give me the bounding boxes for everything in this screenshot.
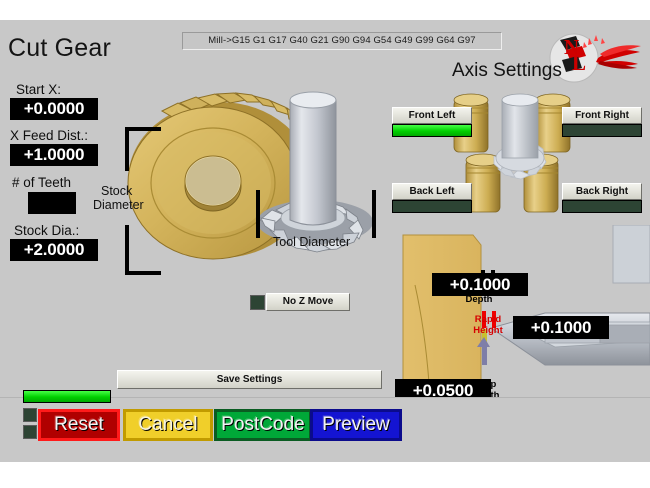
stock-dia-label: Stock Dia.: (14, 223, 79, 238)
cancel-button[interactable]: Cancel (123, 409, 213, 441)
axis-led-front-right (562, 124, 642, 137)
reset-button[interactable]: Reset (38, 409, 120, 441)
preview-button[interactable]: Preview (310, 409, 402, 441)
save-settings-button[interactable]: Save Settings (117, 370, 382, 389)
axis-button-back-left[interactable]: Back Left (392, 183, 472, 200)
stock-diameter-callout-line1: Stock (101, 184, 132, 198)
axis-led-back-left (392, 200, 472, 213)
num-teeth-value[interactable] (28, 192, 76, 214)
no-z-move-button[interactable]: No Z Move (266, 293, 350, 311)
no-z-move-led (250, 295, 265, 310)
axis-button-front-right[interactable]: Front Right (562, 107, 642, 124)
cut-detail-drawing (395, 225, 650, 390)
stock-diameter-callout-line2: Diameter (93, 198, 144, 212)
svg-text:L: L (572, 51, 586, 75)
axis-settings-title: Axis Settings (452, 60, 562, 82)
axis-led-front-left (392, 124, 472, 137)
rapid-height-label-line1: Rapid (468, 315, 508, 325)
step-depth-label-line1: Step (468, 380, 504, 390)
start-x-value[interactable]: +0.0000 (10, 98, 98, 120)
x-feed-dist-value[interactable]: +1.0000 (10, 144, 98, 166)
rapid-height-value[interactable]: +0.1000 (513, 316, 609, 339)
indicator-square-bottom (23, 425, 37, 439)
tool-diameter-callout: Tool Diameter (273, 235, 350, 249)
status-led-strip (23, 390, 111, 403)
stock-dia-value[interactable]: +2.0000 (10, 239, 98, 261)
x-feed-dist-label: X Feed Dist.: (10, 128, 88, 143)
axis-led-back-right (562, 200, 642, 213)
gcode-status-bar: Mill->G15 G1 G17 G40 G21 G90 G94 G54 G49… (182, 32, 502, 50)
start-x-label: Start X: (16, 82, 61, 97)
depth-label: Depth (457, 295, 501, 305)
depth-value[interactable]: +0.1000 (432, 273, 528, 296)
axis-button-back-right[interactable]: Back Right (562, 183, 642, 200)
axis-button-front-left[interactable]: Front Left (392, 107, 472, 124)
post-code-button[interactable]: PostCode (214, 409, 312, 441)
application-window: Cut Gear Mill->G15 G1 G17 G40 G21 G90 G9… (0, 20, 650, 462)
gear-and-tool-drawing (100, 70, 390, 290)
rapid-height-label-line2: Height (468, 326, 508, 336)
indicator-square-top (23, 408, 37, 422)
num-teeth-label: # of Teeth (12, 175, 71, 190)
page-title: Cut Gear (8, 34, 111, 63)
command-bar: Save Settings Reset Cancel PostCode Prev… (0, 397, 650, 462)
